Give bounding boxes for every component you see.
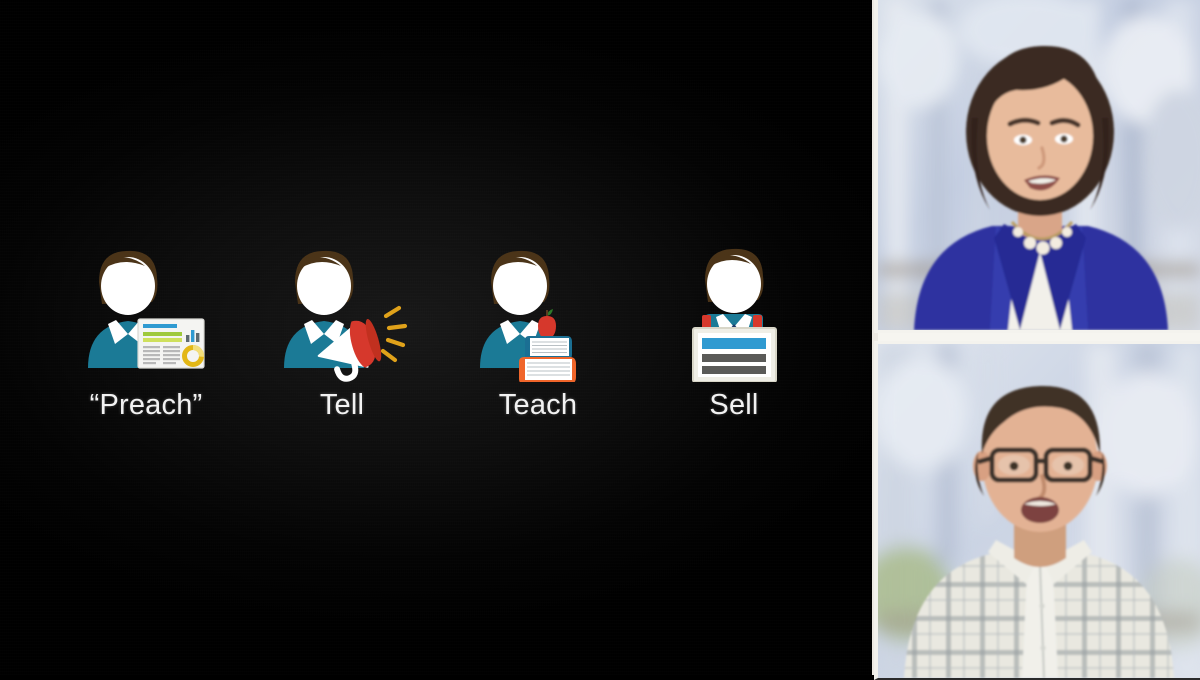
figure-label-preach: “Preach” (90, 391, 203, 420)
person-with-megaphone-icon (255, 232, 430, 382)
figure-label-sell: Sell (709, 391, 758, 420)
presentation-screen: “Preach” (0, 0, 1200, 675)
figure-label-teach: Teach (499, 391, 577, 420)
figure-teach: Teach (440, 232, 636, 442)
figure-preach: “Preach” (48, 232, 244, 442)
person-with-report-document-icon (59, 232, 234, 382)
figure-label-tell: Tell (320, 391, 364, 420)
person-with-sign-board-icon (647, 232, 822, 382)
video-panel-presenter-man[interactable] (874, 341, 1200, 680)
figure-sell: Sell (636, 232, 832, 442)
figure-row: “Preach” (48, 232, 832, 442)
slide-canvas: “Preach” (0, 0, 872, 675)
person-with-books-and-apple-icon (451, 232, 626, 382)
video-panel-presenter-woman[interactable] (874, 0, 1200, 333)
figure-tell: Tell (244, 232, 440, 442)
